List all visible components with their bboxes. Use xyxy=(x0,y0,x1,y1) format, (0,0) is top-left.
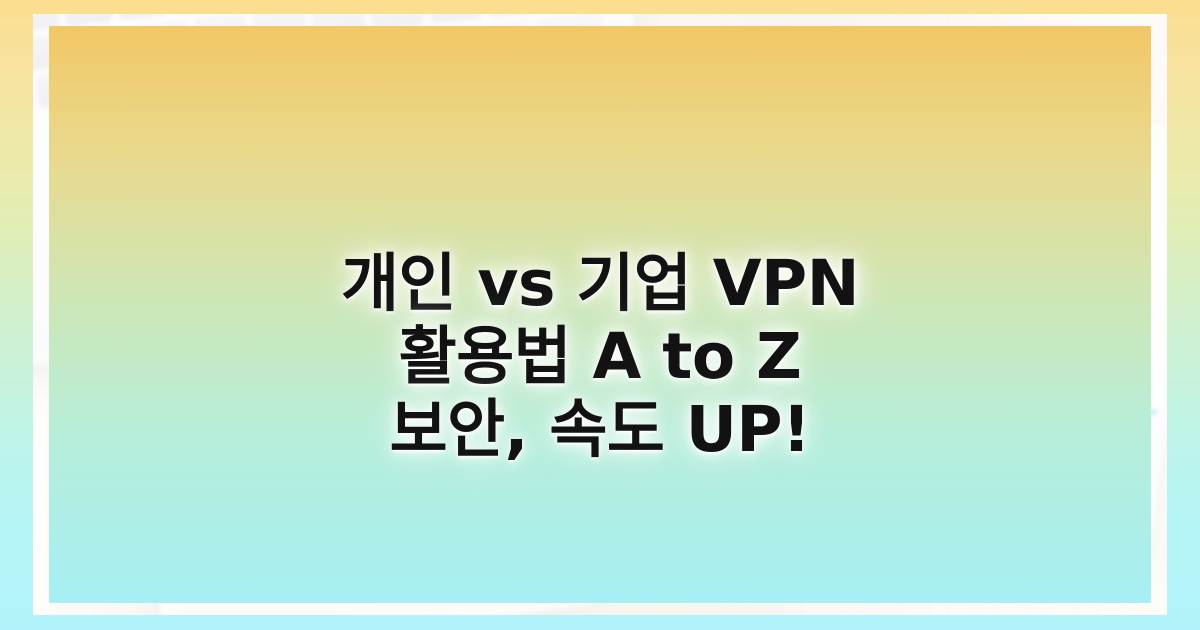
headline-line-2: 활용법 A to Z xyxy=(0,320,1200,393)
headline-line-1: 개인 vs 기업 VPN xyxy=(0,247,1200,320)
headline-line-3: 보안, 속도 UP! xyxy=(0,393,1200,466)
page-title: 개인 vs 기업 VPN 활용법 A to Z 보안, 속도 UP! xyxy=(0,247,1200,466)
thumbnail-card: 개인 vs 기업 VPN 활용법 A to Z 보안, 속도 UP! xyxy=(0,0,1200,630)
